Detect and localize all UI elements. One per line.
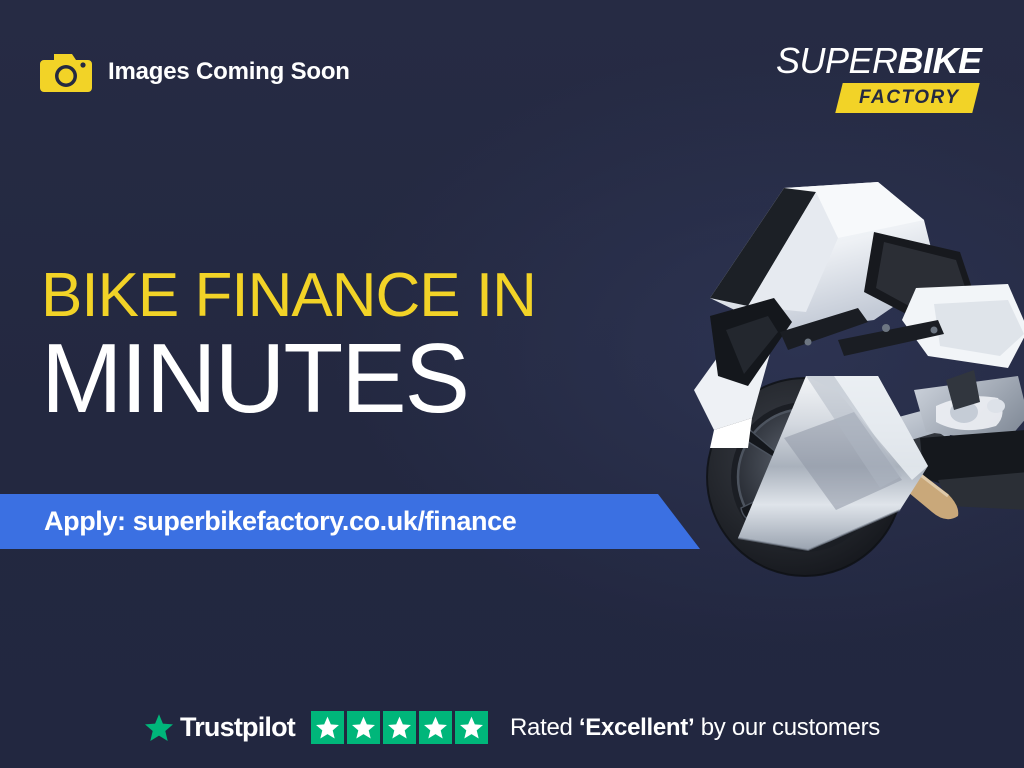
superbike-factory-logo[interactable]: SUPERBIKE FACTORY <box>776 44 976 113</box>
trustpilot-wordmark: Trustpilot <box>180 712 295 743</box>
star-icon <box>387 715 412 740</box>
caption-rating: ‘Excellent’ <box>579 714 694 741</box>
camera-icon <box>38 50 94 94</box>
images-coming-soon: Images Coming Soon <box>38 50 350 94</box>
motorcycle-rear-photo <box>688 180 1024 620</box>
apply-url-text: Apply: superbikefactory.co.uk/finance <box>0 506 516 537</box>
rating-star-1 <box>311 711 344 744</box>
logo-factory-banner: FACTORY <box>776 83 976 113</box>
trustpilot-star-icon <box>144 713 174 742</box>
apply-url-banner[interactable]: Apply: superbikefactory.co.uk/finance <box>0 494 702 549</box>
logo-wordmark: SUPERBIKE <box>776 44 976 78</box>
trustpilot-caption: Rated ‘Excellent’ by our customers <box>510 714 880 742</box>
caption-suffix: by our customers <box>694 714 880 741</box>
logo-bike-text: BIKE <box>898 40 982 81</box>
headline-line-2: MINUTES <box>41 329 701 429</box>
headline-block: BIKE FINANCE IN MINUTES <box>41 265 701 429</box>
trustpilot-logo[interactable]: Trustpilot <box>144 712 295 743</box>
rating-star-2 <box>347 711 380 744</box>
logo-factory-text: FACTORY <box>859 87 960 109</box>
rating-star-4 <box>419 711 452 744</box>
promo-banner: Images Coming Soon SUPERBIKE FACTORY BIK… <box>0 0 1024 768</box>
rating-star-5 <box>455 711 488 744</box>
headline-line-1: BIKE FINANCE IN <box>41 265 701 327</box>
star-icon <box>351 715 376 740</box>
rating-star-3 <box>383 711 416 744</box>
caption-prefix: Rated <box>510 714 579 741</box>
star-icon <box>315 715 340 740</box>
star-icon <box>459 715 484 740</box>
images-coming-soon-label: Images Coming Soon <box>108 58 350 86</box>
star-icon <box>423 715 448 740</box>
trustpilot-rating-bar[interactable]: Trustpilot Rated ‘Excellent’ by our cust… <box>0 711 1024 744</box>
trustpilot-stars <box>311 711 488 744</box>
logo-super-text: SUPER <box>776 40 898 81</box>
